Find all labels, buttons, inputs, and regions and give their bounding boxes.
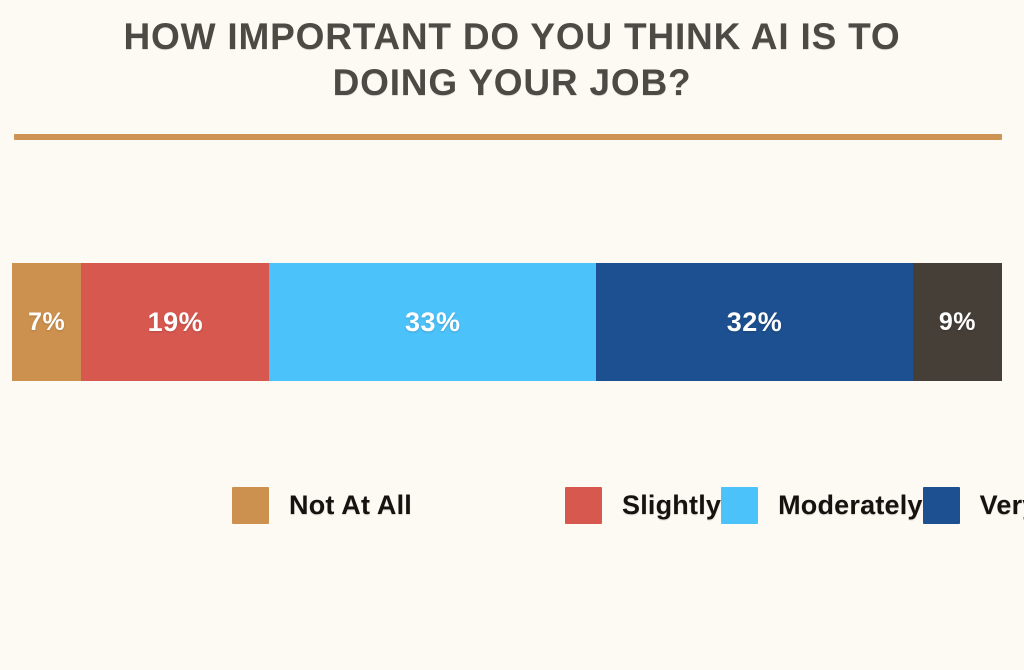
legend-label: Very bbox=[980, 490, 1024, 521]
legend-item-not-at-all[interactable]: Not At All bbox=[232, 470, 565, 540]
bar-segment-not-at-all[interactable]: 7% bbox=[12, 263, 81, 381]
bar-segment-extremely[interactable]: 9% bbox=[913, 263, 1002, 381]
legend-item-moderately[interactable]: Moderately bbox=[721, 470, 923, 540]
title-divider bbox=[14, 134, 1002, 140]
chart-legend: Not At All Slightly Moderately Very Extr… bbox=[232, 470, 932, 540]
stacked-bar-chart: 7% 19% 33% 32% 9% bbox=[12, 263, 1002, 381]
legend-swatch-icon bbox=[923, 487, 960, 524]
legend-label: Not At All bbox=[289, 490, 412, 521]
divider-line bbox=[14, 134, 1002, 140]
bar-segment-label: 33% bbox=[405, 307, 461, 338]
bar-segment-label: 9% bbox=[939, 308, 976, 337]
stacked-bar-track: 7% 19% 33% 32% 9% bbox=[12, 263, 1002, 381]
bar-segment-very[interactable]: 32% bbox=[596, 263, 913, 381]
bar-segment-moderately[interactable]: 33% bbox=[269, 263, 596, 381]
bar-segment-slightly[interactable]: 19% bbox=[81, 263, 269, 381]
bar-segment-label: 32% bbox=[727, 307, 783, 338]
legend-item-slightly[interactable]: Slightly bbox=[565, 470, 721, 540]
bar-segment-label: 19% bbox=[148, 307, 204, 338]
legend-swatch-icon bbox=[565, 487, 602, 524]
legend-label: Slightly bbox=[622, 490, 721, 521]
legend-swatch-icon bbox=[232, 487, 269, 524]
legend-label: Moderately bbox=[778, 490, 923, 521]
page-title: HOW IMPORTANT DO YOU THINK AI IS TO DOIN… bbox=[0, 14, 1024, 105]
bar-segment-label: 7% bbox=[28, 308, 65, 337]
legend-swatch-icon bbox=[721, 487, 758, 524]
title-block: HOW IMPORTANT DO YOU THINK AI IS TO DOIN… bbox=[0, 0, 1024, 105]
chart-page: { "page": { "background_color": "#fdf9f3… bbox=[0, 0, 1024, 670]
legend-item-very[interactable]: Very bbox=[923, 470, 1024, 540]
